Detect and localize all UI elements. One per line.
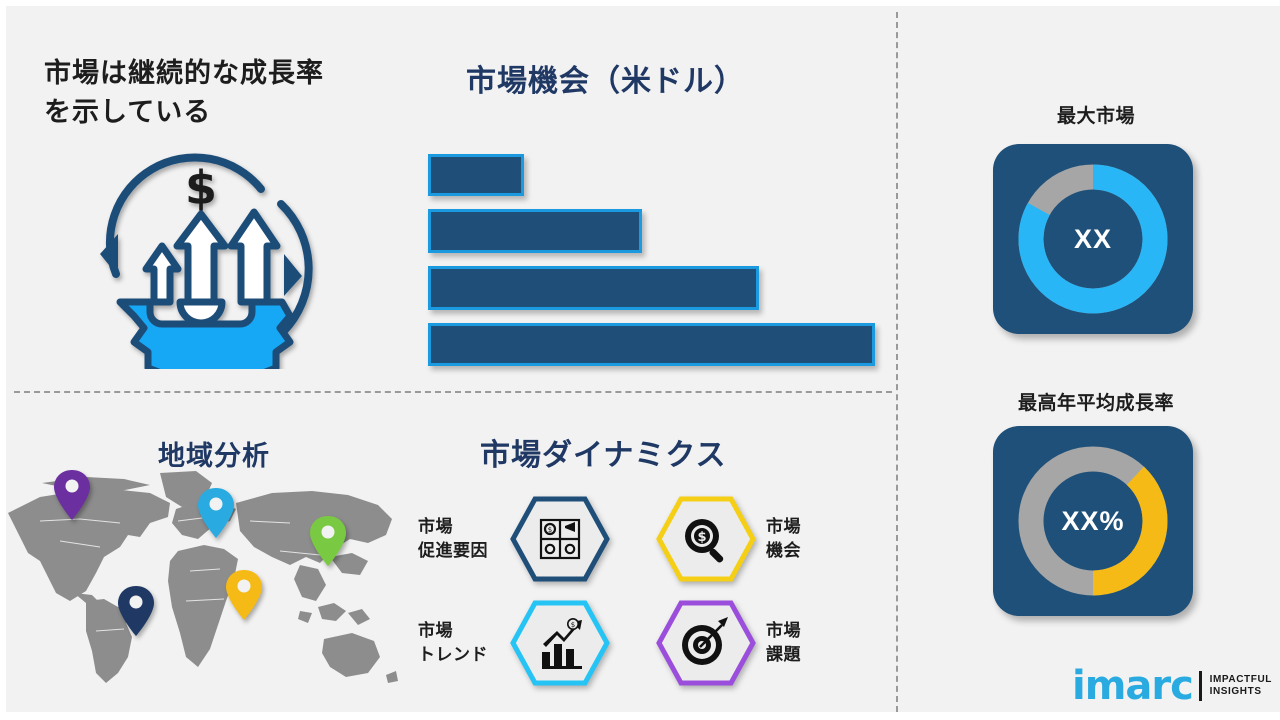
pin-north-america <box>52 468 92 527</box>
dynamics-label-market-challenges: 市場 課題 <box>766 619 801 667</box>
imarc-logo: imarc IMPACTFUL INSIGHTS <box>1072 661 1272 711</box>
dynamics-label-market-trends: 市場 トレンド <box>418 619 510 667</box>
largest-market-value: XX <box>993 144 1193 334</box>
bar-3 <box>428 266 759 310</box>
infographic-slide: 市場は継続的な成長率 を示している $ <box>0 0 1280 720</box>
highest-cagr-card: XX% <box>993 426 1193 616</box>
pin-east-asia <box>308 514 348 573</box>
pin-south-america <box>116 584 156 643</box>
market-opportunity-bar-chart <box>428 154 888 354</box>
hexagon-market-trends: $ <box>510 600 610 686</box>
vertical-divider <box>896 12 898 712</box>
pin-europe <box>196 486 236 545</box>
horizontal-divider <box>14 391 892 393</box>
growth-panel-title: 市場は継続的な成長率 を示している <box>44 54 394 132</box>
dynamics-item-market-challenges[interactable]: 市場 課題 <box>656 600 801 686</box>
hexagon-market-opportunities: $ <box>656 496 756 582</box>
svg-text:$: $ <box>548 526 552 534</box>
largest-market-label: 最大市場 <box>966 101 1226 128</box>
bar-4 <box>428 323 875 366</box>
highest-cagr-value: XX% <box>993 426 1193 616</box>
dynamics-item-market-trends[interactable]: 市場 トレンド $ <box>418 600 610 686</box>
logo-wordmark: imarc <box>1072 666 1193 706</box>
dynamics-item-market-opportunities[interactable]: $ 市場 機会 <box>656 496 801 582</box>
hexagon-market-challenges <box>656 600 756 686</box>
dynamics-panel-title: 市場ダイナミクス <box>480 430 727 474</box>
svg-text:$: $ <box>571 621 575 629</box>
dynamics-item-market-drivers[interactable]: 市場 促進要因 $ <box>418 496 610 582</box>
svg-text:$: $ <box>697 530 706 545</box>
hexagon-market-drivers: $ <box>510 496 610 582</box>
growth-cycle-gear-icon: $ <box>76 134 326 369</box>
highest-cagr-label: 最高年平均成長率 <box>951 388 1241 415</box>
opportunity-panel-title: 市場機会（米ドル） <box>466 56 886 100</box>
largest-market-card: XX <box>993 144 1193 334</box>
bar-2 <box>428 209 642 253</box>
logo-divider <box>1199 671 1202 701</box>
dynamics-label-market-drivers: 市場 促進要因 <box>418 515 510 563</box>
pin-middle-east-africa <box>224 568 264 627</box>
bar-1 <box>428 154 524 196</box>
logo-tagline: IMPACTFUL INSIGHTS <box>1210 674 1272 699</box>
svg-text:$: $ <box>185 161 217 215</box>
dynamics-label-market-opportunities: 市場 機会 <box>766 515 801 563</box>
